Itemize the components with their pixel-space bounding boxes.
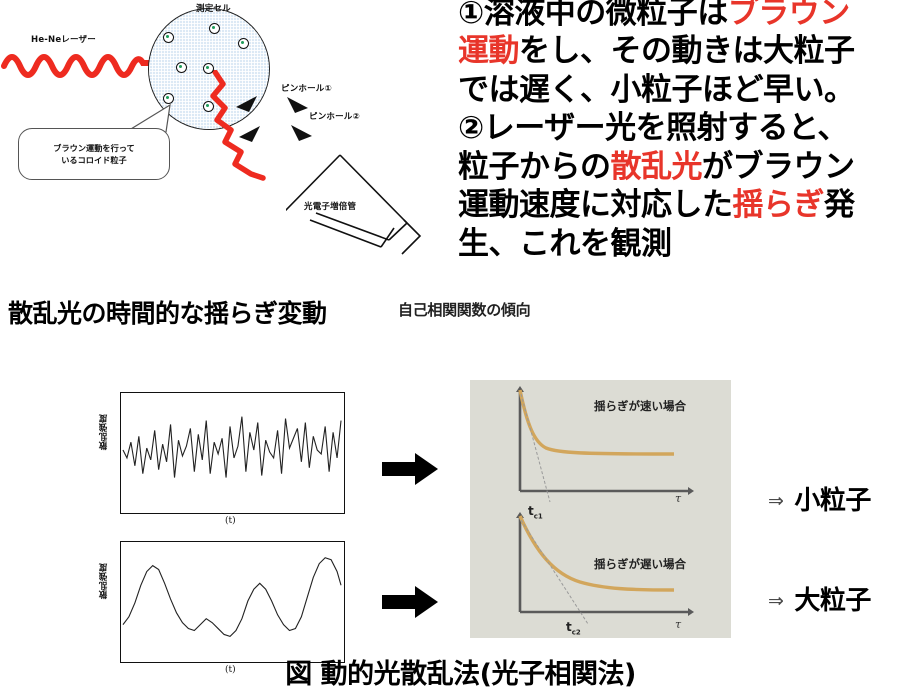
- photomultiplier-tube: [286, 128, 446, 263]
- conclusion-small-label: 小粒子: [794, 486, 871, 516]
- colloid-particle: [203, 101, 214, 112]
- arrow-right-icon-bottom: [382, 585, 438, 619]
- signal-plot-slow-box: [120, 541, 345, 663]
- pinhole-1-marker-icon: [285, 96, 311, 116]
- callout-line-2: いるコロイド粒子: [53, 154, 134, 166]
- pinhole-1-label: ピンホール①: [281, 82, 332, 94]
- pinhole-1-marker-icon: [233, 95, 259, 115]
- explain-line-1: ①溶液中の微粒子はブラウン: [458, 0, 921, 32]
- highlight-scattered-light: 散乱光: [611, 149, 703, 185]
- implies-arrow-icon-large: ⇒: [768, 590, 783, 612]
- implies-arrow-icon-small: ⇒: [768, 490, 783, 512]
- conclusion-large-particle: ⇒大粒子: [768, 580, 871, 617]
- arrow-right-icon-top: [382, 452, 438, 486]
- highlight-brown-motion-a: ブラウン: [728, 0, 850, 31]
- explain-line-3: では遅く、小粒子ほど早い。: [458, 71, 921, 109]
- colloid-particle: [203, 63, 214, 74]
- signal-plot-ylabel: 散乱強度: [98, 563, 110, 599]
- tau-axis-label-fast: τ: [675, 492, 681, 505]
- signal-plot-fast-box: [120, 392, 345, 514]
- colloid-particle: [163, 93, 174, 104]
- signal-plot-fast: 散乱強度 (t): [95, 392, 345, 532]
- tc2-label: tc2: [566, 620, 581, 636]
- figure-caption: 図 動的光散乱法(光子相関法): [0, 652, 921, 691]
- autocorrelation-panel: 揺らぎが速い場合 τ tc1 揺らぎが遅い場合 τ tc2: [470, 380, 731, 638]
- colloid-callout: ブラウン運動を行って いるコロイド粒子: [18, 128, 170, 180]
- colloid-particle: [163, 32, 174, 43]
- laser-label: He-Neレーザー: [31, 33, 96, 45]
- conclusion-large-label: 大粒子: [794, 586, 871, 616]
- heading-signal-fluctuation: 散乱光の時間的な揺らぎ変動: [8, 294, 327, 330]
- photomultiplier-label: 光電子増倍管: [304, 200, 356, 212]
- slow-fluctuation-trace: [121, 542, 344, 662]
- signal-plot-fast-xlabel: (t): [225, 516, 236, 526]
- colloid-particle: [238, 38, 249, 49]
- explain-line-5: 粒子からの散乱光がブラウン: [458, 148, 921, 186]
- colloid-particle: [209, 23, 220, 34]
- explain-line-4: ②レーザー光を照射すると、: [458, 109, 921, 147]
- callout-line-1: ブラウン運動を行って: [53, 142, 134, 154]
- cell-label: 測定セル: [196, 2, 231, 14]
- highlight-brown-motion-b: 運動: [458, 33, 519, 69]
- apparatus-diagram: He-Neレーザー 測定セル ピンホール① ピンホール② 光電子増倍管 ブラウン…: [0, 0, 455, 290]
- pinhole-2-marker-icon: [236, 125, 262, 145]
- fast-fluctuation-caption: 揺らぎが速い場合: [594, 398, 686, 414]
- explain-line-6: 運動速度に対応した揺らぎ発: [458, 186, 921, 224]
- heading-autocorrelation: 自己相関関数の傾向: [398, 299, 530, 320]
- tau-axis-label-slow: τ: [675, 618, 681, 631]
- fast-fluctuation-trace: [121, 393, 344, 513]
- autocorrelation-slow-chart: [492, 512, 707, 634]
- highlight-fluctuation: 揺らぎ: [733, 187, 825, 223]
- explain-line-7: 生、これを観測: [458, 225, 921, 263]
- explanation-text: ①溶液中の微粒子はブラウン 運動をし、その動きは大粒子 では遅く、小粒子ほど早い…: [458, 0, 921, 263]
- colloid-particle: [176, 62, 187, 73]
- slow-fluctuation-caption: 揺らぎが遅い場合: [594, 556, 686, 572]
- conclusion-small-particle: ⇒小粒子: [768, 480, 871, 517]
- pinhole-2-label: ピンホール②: [309, 110, 360, 122]
- explain-line-2: 運動をし、その動きは大粒子: [458, 32, 921, 70]
- signal-plot-ylabel: 散乱強度: [98, 414, 110, 450]
